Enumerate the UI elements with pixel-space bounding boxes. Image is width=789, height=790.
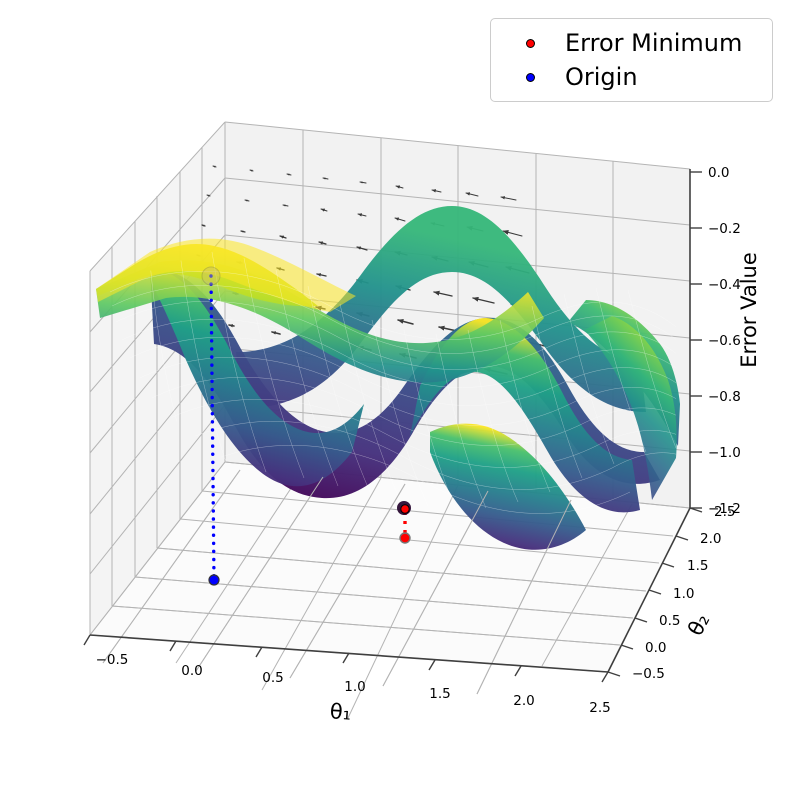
y-tick-0: −0.5 xyxy=(632,666,665,682)
x-tick-2: 0.5 xyxy=(262,670,283,686)
x-tick-3: 1.0 xyxy=(344,679,365,695)
z-axis-ticks xyxy=(690,172,702,508)
y-tick-3: 1.0 xyxy=(673,586,694,602)
error-minimum-marker-floor[interactable] xyxy=(400,533,410,543)
legend-label-origin: Origin xyxy=(565,63,638,91)
red-dot-icon xyxy=(526,39,535,48)
z-tick-1: −0.2 xyxy=(708,221,741,237)
error-minimum-marker-dot[interactable] xyxy=(401,505,409,513)
z-tick-4: −0.8 xyxy=(708,389,741,405)
x-tick-0: −0.5 xyxy=(96,652,129,668)
legend-marker-origin xyxy=(517,73,543,82)
y-tick-2: 0.5 xyxy=(659,613,680,629)
figure-canvas: −0.5 0.0 0.5 1.0 1.5 2.0 2.5 −0.5 0.0 0.… xyxy=(0,0,789,790)
origin-marker-floor[interactable] xyxy=(209,575,219,585)
z-axis-title: Error Value xyxy=(737,252,761,368)
x-tick-4: 1.5 xyxy=(429,686,450,702)
surface-plot-3d: −0.5 0.0 0.5 1.0 1.5 2.0 2.5 −0.5 0.0 0.… xyxy=(0,0,789,790)
z-axis-tick-labels: 0.0 −0.2 −0.4 −0.6 −0.8 −1.0 −1.2 xyxy=(708,165,741,517)
z-tick-2: −0.4 xyxy=(708,277,741,293)
y-tick-1: 0.0 xyxy=(645,640,666,656)
y-axis-title: θ₂ xyxy=(683,610,714,640)
x-tick-5: 2.0 xyxy=(513,693,534,709)
x-axis-title: θ₁ xyxy=(329,699,352,724)
blue-dot-icon xyxy=(526,73,535,82)
y-tick-5: 2.0 xyxy=(700,531,721,547)
z-tick-0: 0.0 xyxy=(708,165,729,181)
x-tick-6: 2.5 xyxy=(589,700,610,716)
y-tick-4: 1.5 xyxy=(687,558,708,574)
z-tick-6: −1.2 xyxy=(708,501,741,517)
z-tick-3: −0.6 xyxy=(708,333,741,349)
x-tick-1: 0.0 xyxy=(181,663,202,679)
legend-marker-error-minimum xyxy=(517,39,543,48)
legend-label-error-minimum: Error Minimum xyxy=(565,29,742,57)
z-tick-5: −1.0 xyxy=(708,445,741,461)
legend-entry-error-minimum[interactable]: Error Minimum xyxy=(491,26,772,60)
legend: Error Minimum Origin xyxy=(490,18,773,102)
origin-marker-surface[interactable] xyxy=(202,267,220,285)
legend-entry-origin[interactable]: Origin xyxy=(491,60,772,94)
